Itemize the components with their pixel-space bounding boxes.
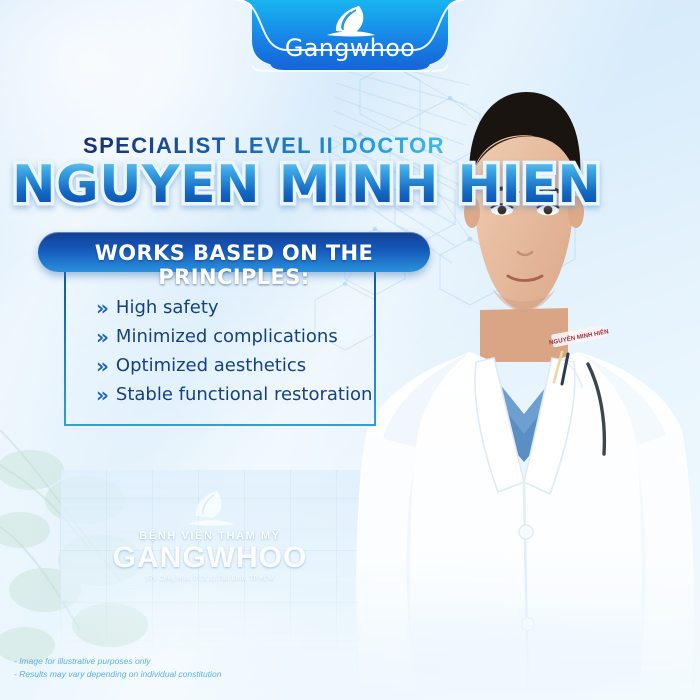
disclaimer-line2: - Results may vary depending on individu… bbox=[14, 668, 221, 681]
list-item: » High safety bbox=[96, 293, 386, 322]
list-item: » Optimized aesthetics bbox=[96, 351, 386, 380]
doctor-name-heading: NGUYEN MINH HIEN NGUYEN MINH HIEN bbox=[12, 155, 601, 215]
poster-canvas: BỆNH VIỆN THẨM MỸ GANGWHOO 576 Cộng Hòa,… bbox=[0, 0, 700, 700]
double-chevron-right-icon: » bbox=[96, 356, 109, 376]
foliage-decoration bbox=[0, 430, 170, 680]
disclaimer-text: - Image for illustrative purposes only -… bbox=[14, 655, 221, 681]
building-leaf-logo-icon bbox=[183, 488, 237, 530]
building-sign-line2: GANGWHOO bbox=[60, 542, 360, 574]
clinic-building-photo: BỆNH VIỆN THẨM MỸ GANGWHOO 576 Cộng Hòa,… bbox=[60, 470, 360, 655]
principles-banner-label: WORKS BASED ON THE PRINCIPLES: bbox=[38, 241, 430, 289]
doctor-name-fill: NGUYEN MINH HIEN bbox=[12, 155, 601, 215]
building-sign-line1: BỆNH VIỆN THẨM MỸ bbox=[60, 530, 360, 542]
list-item-label: Optimized aesthetics bbox=[116, 355, 306, 376]
double-chevron-right-icon: » bbox=[96, 327, 109, 347]
building-sign-text: BỆNH VIỆN THẨM MỸ GANGWHOO 576 Cộng Hòa,… bbox=[60, 530, 360, 582]
brand-name: Gangwhoo bbox=[0, 34, 700, 62]
principles-banner: WORKS BASED ON THE PRINCIPLES: bbox=[38, 232, 430, 272]
building-sign-line3: 576 Cộng Hòa, P.13, Q.Tân Bình, TP.HCM bbox=[60, 576, 360, 582]
list-item: » Minimized complications bbox=[96, 322, 386, 351]
list-item-label: High safety bbox=[116, 297, 219, 318]
gangwhoo-logo-icon bbox=[325, 4, 377, 38]
doctor-name-tag-text: NGUYỄN MINH HIỂN bbox=[549, 328, 610, 347]
list-item-label: Minimized complications bbox=[116, 326, 338, 347]
double-chevron-right-icon: » bbox=[96, 298, 109, 318]
disclaimer-line1: - Image for illustrative purposes only bbox=[14, 655, 221, 668]
double-chevron-right-icon: » bbox=[96, 385, 109, 405]
list-item-label: Stable functional restoration bbox=[116, 384, 372, 405]
brand-tab: Gangwhoo bbox=[0, 0, 700, 78]
building-glass-facade bbox=[60, 470, 360, 655]
list-item: » Stable functional restoration bbox=[96, 380, 386, 409]
principles-list: » High safety » Minimized complications … bbox=[96, 293, 386, 409]
